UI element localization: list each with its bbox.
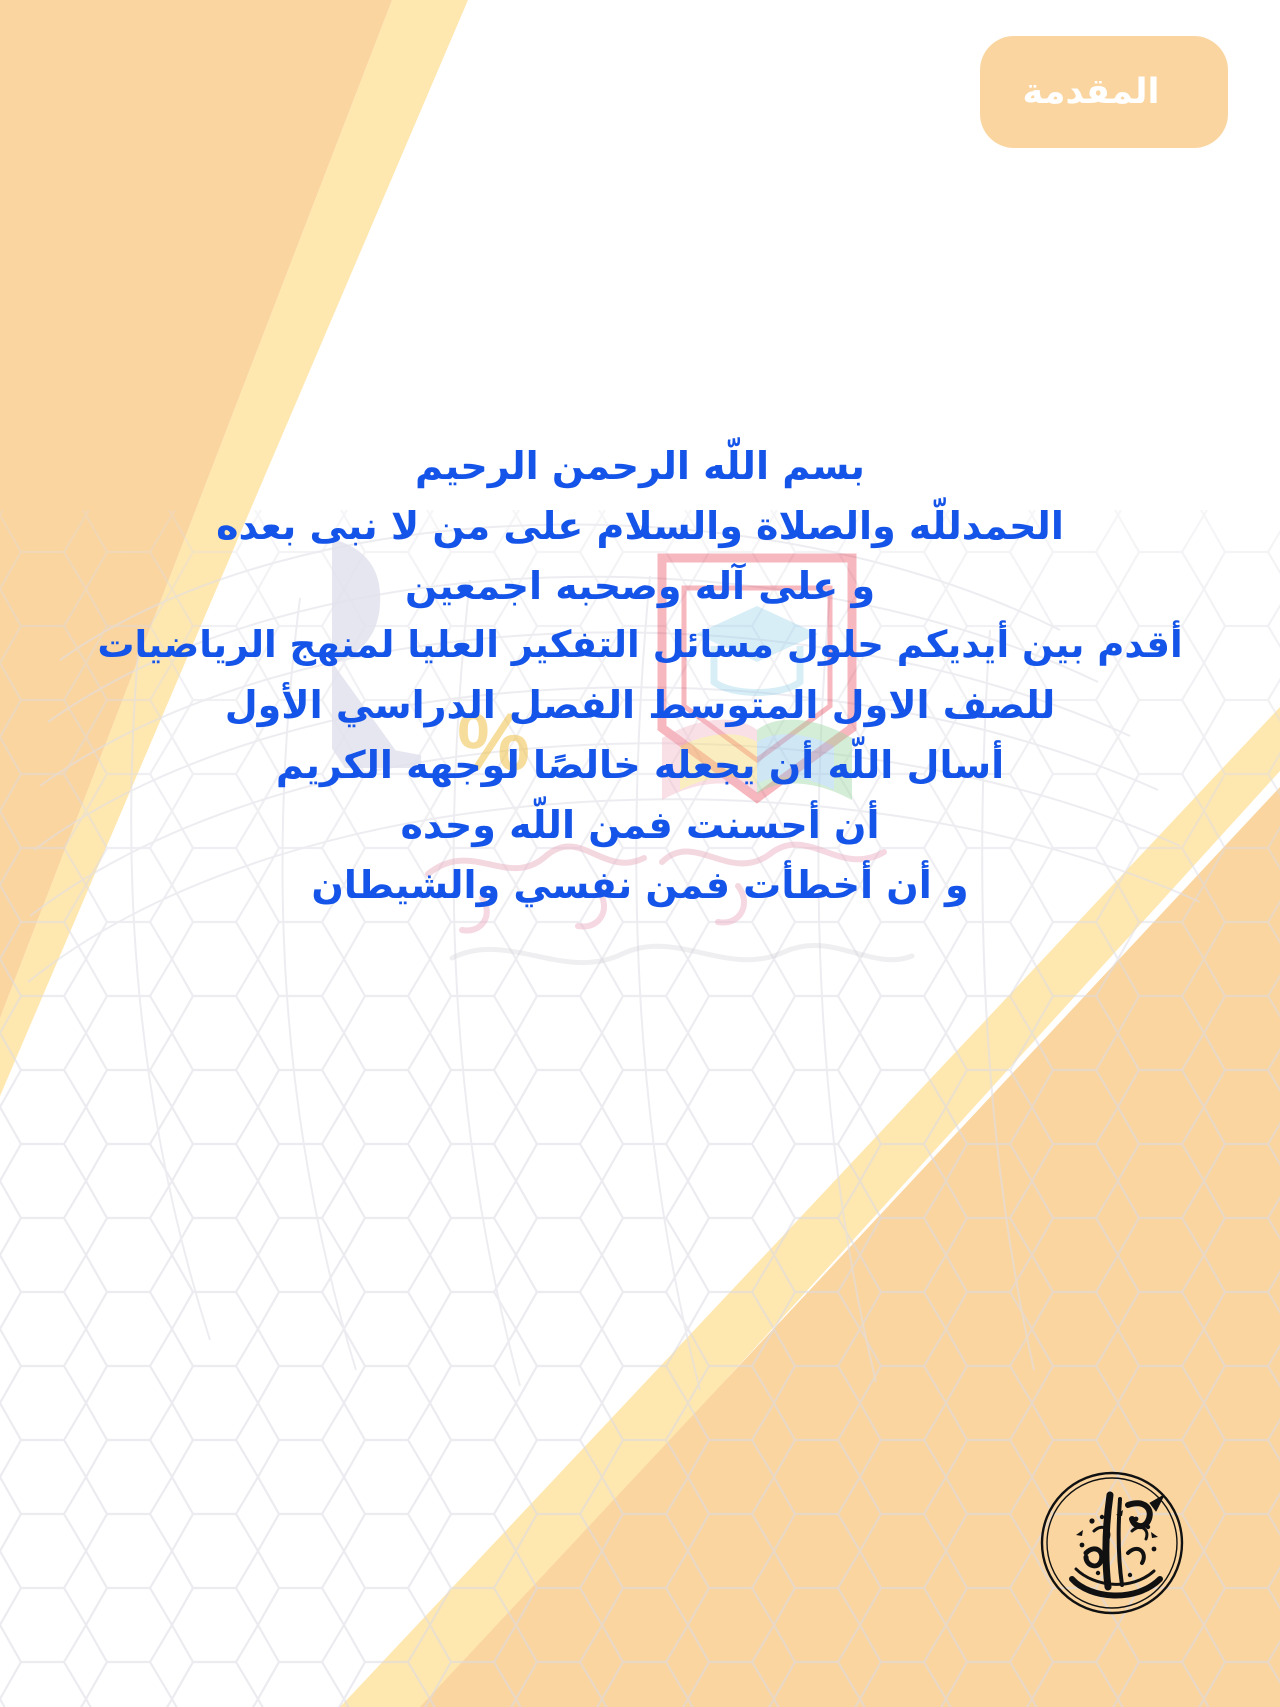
- text-line: الحمدللّه والصلاة والسلام على من لا نبى …: [0, 496, 1280, 556]
- text-line: أسال اللّه أن يجعله خالصًا لوجهه الكريم: [0, 735, 1280, 795]
- text-line: للصف الاول المتوسط الفصل الدراسي الأول: [0, 675, 1280, 735]
- text-line: أن أحسنت فمن اللّه وحده: [0, 795, 1280, 855]
- section-badge[interactable]: المقدمة: [980, 36, 1228, 148]
- calligraphy-seal-icon: [1032, 1461, 1192, 1621]
- introduction-text-block: بسم اللّه الرحمن الرحيم الحمدللّه والصلا…: [0, 436, 1280, 915]
- text-line: بسم اللّه الرحمن الرحيم: [0, 436, 1280, 496]
- text-line: و أن أخطأت فمن نفسي والشيطان: [0, 855, 1280, 915]
- text-line: أقدم بين أيديكم حلول مسائل التفكير العلي…: [0, 616, 1280, 674]
- section-badge-label: المقدمة: [1023, 75, 1186, 110]
- document-page: R %: [0, 0, 1280, 1707]
- text-line: و على آله وصحبه اجمعين: [0, 556, 1280, 616]
